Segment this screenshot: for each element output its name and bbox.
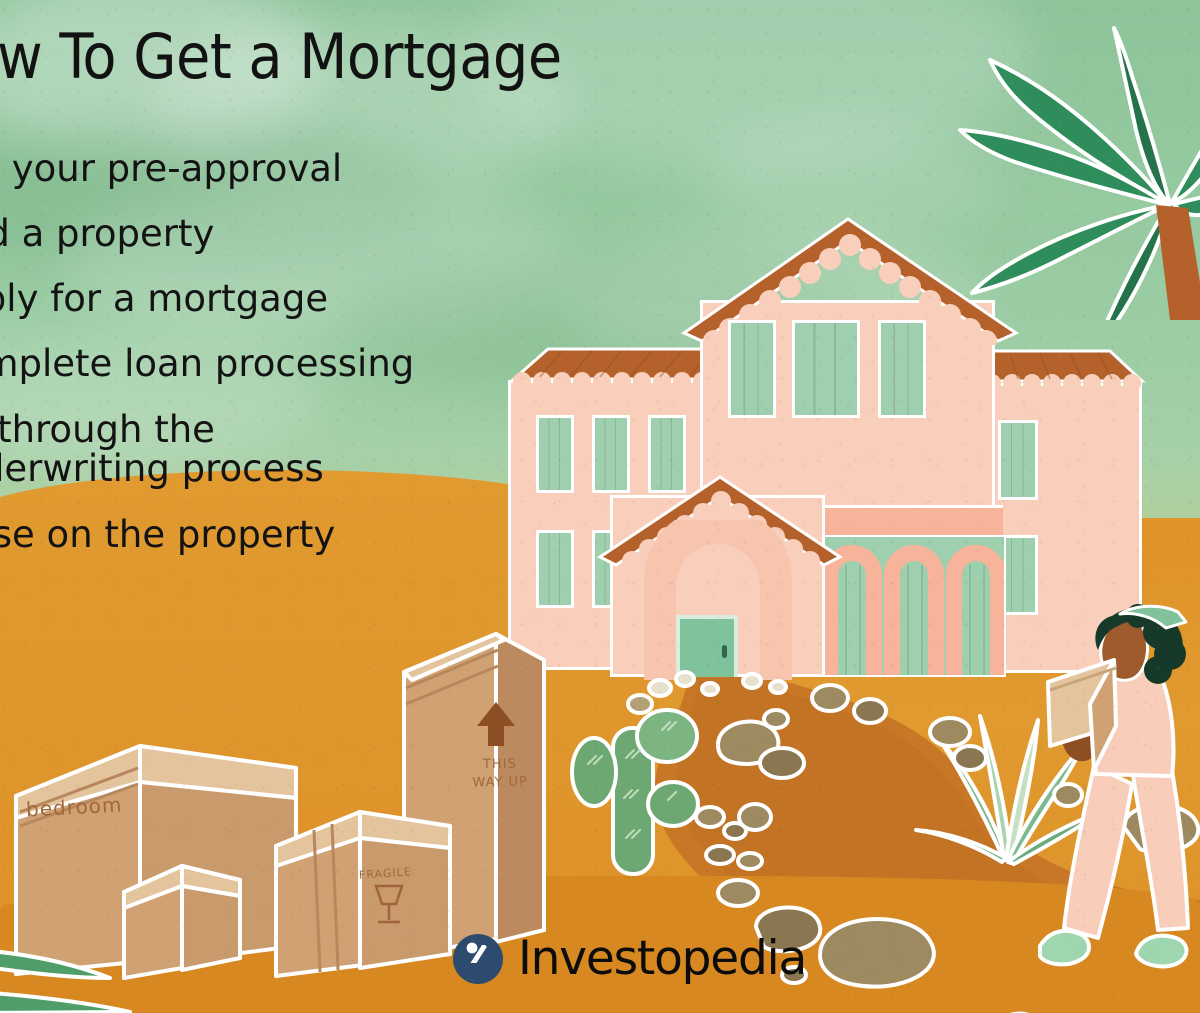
window <box>998 420 1038 500</box>
page-title: How To Get a Mortgage <box>0 20 562 93</box>
step-item: Go through the underwriting process <box>0 410 404 488</box>
step-item: Find a property <box>0 215 574 252</box>
window <box>878 320 926 418</box>
steps-list: Get your pre-approval Find a property Ap… <box>0 150 574 581</box>
agave-plant-foreground <box>0 940 210 1013</box>
window <box>792 320 860 418</box>
window <box>728 320 776 418</box>
step-item: Complete loan processing <box>0 345 574 382</box>
investopedia-i-circle-icon <box>452 933 504 985</box>
step-item: Apply for a mortgage <box>0 280 574 317</box>
step-item: Close on the property <box>0 516 574 553</box>
box-label-bedroom: bedroom <box>25 792 123 821</box>
up-arrow-icon <box>473 700 519 748</box>
person-carrying-box <box>1036 598 1200 980</box>
step-item: Get your pre-approval <box>0 150 574 187</box>
investopedia-wordmark: Investopedia <box>518 931 806 986</box>
illustration-canvas: THIS WAY UP bedroom FRAGILE <box>0 0 1200 1013</box>
box-label-this-way-up: THIS WAY UP <box>470 755 531 791</box>
investopedia-logo[interactable]: Investopedia <box>452 931 806 986</box>
